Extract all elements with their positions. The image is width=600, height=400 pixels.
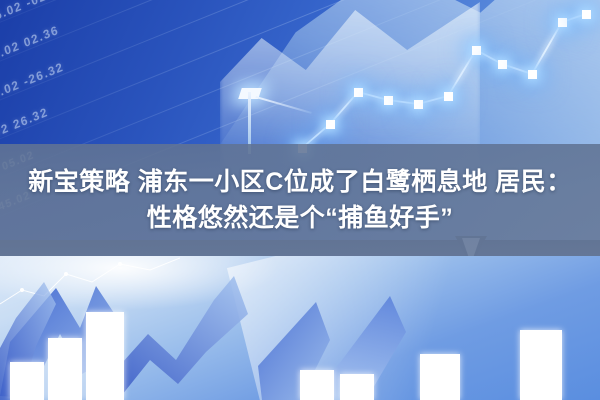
chart-node-marker — [326, 120, 335, 129]
chart-node-marker — [582, 10, 591, 19]
chart-node-marker — [414, 100, 423, 109]
bar-chart-bar — [420, 354, 460, 400]
chart-node-marker — [354, 88, 363, 97]
bar-chart-bar — [300, 370, 334, 400]
chart-node-marker — [498, 60, 507, 69]
bar-chart-bar — [86, 312, 124, 400]
bar-chart-bar — [10, 362, 44, 400]
headline-line-1: 新宝策略 浦东一小区C位成了白鹭栖息地 居民： — [28, 166, 571, 198]
background-bottom-panel — [0, 256, 600, 400]
headline-line-2: 性格悠然还是个“捕鱼好手” — [147, 202, 454, 234]
bar-chart-bar — [48, 338, 82, 400]
bar-chart-bar — [520, 330, 562, 400]
chart-node-marker — [472, 46, 481, 55]
chart-node-marker — [384, 96, 393, 105]
chart-node-marker — [558, 18, 567, 27]
news-thumbnail-image: -11.25 -02.36 +45.02 21.15+50.02 -11.25 … — [0, 0, 600, 400]
headline-banner: 新宝策略 浦东一小区C位成了白鹭栖息地 居民： 性格悠然还是个“捕鱼好手” — [0, 144, 600, 256]
bar-chart-bar — [340, 374, 374, 400]
chart-node-marker — [444, 92, 453, 101]
chart-node-marker — [528, 70, 537, 79]
